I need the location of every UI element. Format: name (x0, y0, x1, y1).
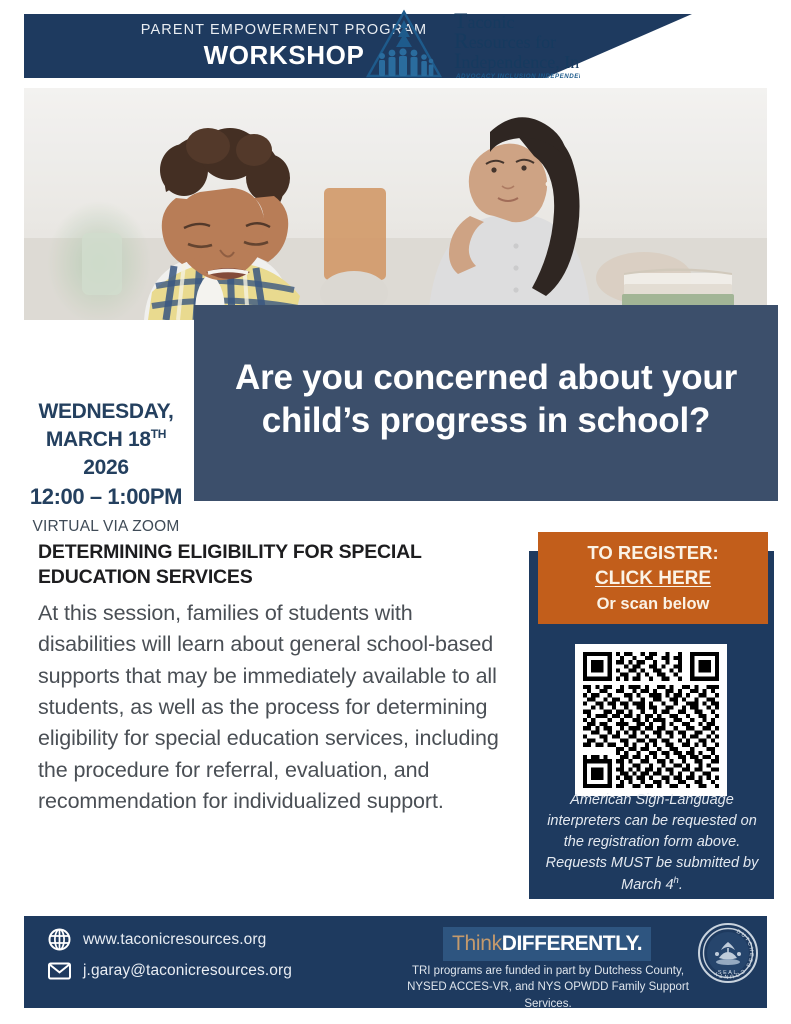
page-title: WORKSHOP (204, 42, 365, 69)
hero-photo (24, 88, 767, 320)
asl-note: American Sign-Language interpreters can … (540, 790, 764, 895)
event-date: MARCH 18TH (16, 426, 196, 454)
think-differently-logo: ThinkDIFFERENTLY. (443, 927, 651, 961)
register-scan-label: Or scan below (597, 593, 710, 616)
headline-box: Are you concerned about your child’s pro… (194, 305, 778, 501)
register-link[interactable]: CLICK HERE (595, 566, 711, 593)
svg-text:Resources for: Resources for (454, 28, 556, 53)
website-url: www.taconicresources.org (83, 931, 266, 949)
funding-note: TRI programs are funded in part by Dutch… (398, 963, 698, 1012)
envelope-icon (48, 959, 71, 982)
think-word: Think (452, 932, 502, 956)
asl-note-period: . (679, 876, 683, 892)
register-header-box: TO REGISTER: CLICK HERE Or scan below (538, 532, 768, 624)
event-date-suffix: TH (151, 427, 166, 441)
event-year: 2026 (16, 454, 196, 482)
event-details: WEDNESDAY, MARCH 18TH 2026 12:00 – 1:00P… (16, 398, 196, 538)
email-row[interactable]: j.garay@taconicresources.org (48, 959, 388, 982)
triangle-people-logo: Taconic Resources for Independence, Inc.… (360, 6, 580, 84)
globe-icon (48, 928, 71, 951)
flyer-page: PARENT EMPOWERMENT PROGRAM WORKSHOP Taco… (0, 0, 791, 1024)
taconic-resources-logo: Taconic Resources for Independence, Inc.… (360, 6, 580, 84)
session-description: At this session, families of students wi… (38, 598, 506, 818)
event-location: VIRTUAL VIA ZOOM (16, 515, 196, 538)
website-row[interactable]: www.taconicresources.org (48, 928, 388, 951)
session-info: DETERMINING ELIGIBILITY FOR SPECIAL EDUC… (38, 540, 506, 818)
logo-tagline: ADVOCACY INCLUSION INDEPENDENCE (455, 73, 580, 80)
email-address: j.garay@taconicresources.org (83, 962, 292, 980)
differently-word: DIFFERENTLY. (502, 932, 642, 956)
event-time: 12:00 – 1:00PM (16, 482, 196, 512)
qr-code-icon (583, 652, 719, 788)
footer-contacts: www.taconicresources.org j.garay@taconic… (48, 928, 388, 990)
header: PARENT EMPOWERMENT PROGRAM WORKSHOP Taco… (0, 0, 791, 88)
svg-text:SEAL: SEAL (718, 970, 738, 976)
photo-parent-child (24, 88, 767, 320)
register-heading: TO REGISTER: (587, 540, 718, 566)
qr-code[interactable] (575, 644, 727, 796)
asl-note-text: American Sign-Language interpreters can … (546, 792, 759, 892)
event-date-value: MARCH 18 (46, 428, 151, 451)
headline-text: Are you concerned about your child’s pro… (220, 357, 752, 442)
session-title: DETERMINING ELIGIBILITY FOR SPECIAL EDUC… (38, 540, 506, 590)
dutchess-county-seal: DUTCHESS COUNTY SEAL (697, 922, 759, 984)
svg-text:Independence, Inc.: Independence, Inc. (454, 48, 580, 73)
event-day: WEDNESDAY, (16, 398, 196, 426)
